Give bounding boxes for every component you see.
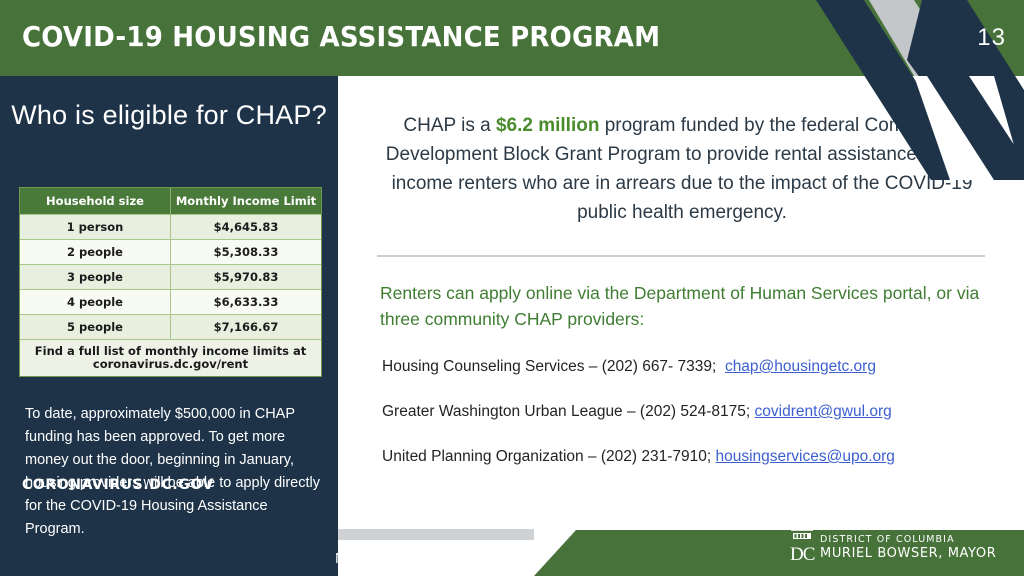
cell-household-size: 3 people bbox=[20, 265, 171, 290]
logo-line-mayor: MURIEL BOWSER, MAYOR bbox=[820, 546, 996, 561]
cell-income-limit: $7,166.67 bbox=[171, 315, 322, 340]
lead-paragraph: CHAP is a $6.2 million program funded by… bbox=[370, 111, 994, 227]
table-header-row: Household size Monthly Income Limit bbox=[20, 188, 321, 215]
dc-government-logo: GOVERNMENT OF THE DISTRICT OF COLUMBIA D… bbox=[790, 522, 1002, 566]
site-url: CORONAVIRUS.DC.GOV bbox=[22, 477, 214, 493]
provider-row-1: Housing Counseling Services – (202) 667-… bbox=[382, 356, 1002, 378]
provider-2-name-phone: Greater Washington Urban League – (202) … bbox=[382, 403, 750, 420]
cell-household-size: 5 people bbox=[20, 315, 171, 340]
table-row: 2 people $5,308.33 bbox=[20, 240, 321, 265]
cell-income-limit: $5,308.33 bbox=[171, 240, 322, 265]
cell-household-size: 4 people bbox=[20, 290, 171, 315]
table-row: 4 people $6,633.33 bbox=[20, 290, 321, 315]
cell-household-size: 1 person bbox=[20, 215, 171, 240]
table-row: 3 people $5,970.83 bbox=[20, 265, 321, 290]
slide-date: November 30, 2020 bbox=[335, 550, 467, 567]
provider-1-name-phone: Housing Counseling Services – (202) 667-… bbox=[382, 358, 716, 375]
income-limits-table-container: Household size Monthly Income Limit 1 pe… bbox=[19, 187, 322, 377]
table-head: Household size Monthly Income Limit bbox=[20, 188, 321, 215]
funding-amount-highlight: $6.2 million bbox=[496, 115, 599, 136]
slide-canvas: CHAP is a $6.2 million program funded by… bbox=[0, 0, 1024, 576]
cell-household-size: 2 people bbox=[20, 240, 171, 265]
provider-row-3: United Planning Organization – (202) 231… bbox=[382, 446, 1002, 468]
logo-dc-mark: DC bbox=[790, 544, 814, 566]
column-header-monthly-income-limit: Monthly Income Limit bbox=[171, 188, 322, 215]
lead-text-part1: CHAP is a bbox=[403, 115, 496, 136]
eligibility-sidebar: Who is eligible for CHAP? Household size… bbox=[0, 76, 338, 576]
apply-instructions-heading: Renters can apply online via the Departm… bbox=[380, 280, 980, 332]
section-divider bbox=[377, 255, 985, 257]
footer-gray-bar bbox=[338, 529, 534, 540]
provider-2-email-link[interactable]: covidrent@gwul.org bbox=[755, 403, 892, 420]
table-footnote-row: Find a full list of monthly income limit… bbox=[20, 340, 321, 377]
sidebar-heading: Who is eligible for CHAP? bbox=[0, 98, 338, 132]
page-title: COVID-19 HOUSING ASSISTANCE PROGRAM bbox=[22, 20, 660, 53]
funding-status-note: To date, approximately $500,000 in CHAP … bbox=[25, 403, 321, 541]
logo-line-government-of-the: GOVERNMENT OF THE bbox=[820, 522, 945, 533]
cell-income-limit: $5,970.83 bbox=[171, 265, 322, 290]
table-body: 1 person $4,645.83 2 people $5,308.33 3 … bbox=[20, 215, 321, 377]
logo-line-district-of-columbia: DISTRICT OF COLUMBIA bbox=[820, 534, 955, 545]
page-number: 13 bbox=[977, 24, 1006, 52]
table-footnote: Find a full list of monthly income limit… bbox=[20, 340, 321, 377]
provider-1-email-link[interactable]: chap@housingetc.org bbox=[725, 358, 876, 375]
cell-income-limit: $4,645.83 bbox=[171, 215, 322, 240]
table-row: 1 person $4,645.83 bbox=[20, 215, 321, 240]
provider-3-email-link[interactable]: housingservices@upo.org bbox=[715, 448, 894, 465]
income-limits-table: Household size Monthly Income Limit 1 pe… bbox=[20, 188, 321, 376]
main-content-panel: CHAP is a $6.2 million program funded by… bbox=[340, 76, 1024, 576]
column-header-household-size: Household size bbox=[20, 188, 171, 215]
provider-3-name-phone: United Planning Organization – (202) 231… bbox=[382, 448, 711, 465]
provider-row-2: Greater Washington Urban League – (202) … bbox=[382, 401, 1002, 423]
cell-income-limit: $6,633.33 bbox=[171, 290, 322, 315]
table-row: 5 people $7,166.67 bbox=[20, 315, 321, 340]
